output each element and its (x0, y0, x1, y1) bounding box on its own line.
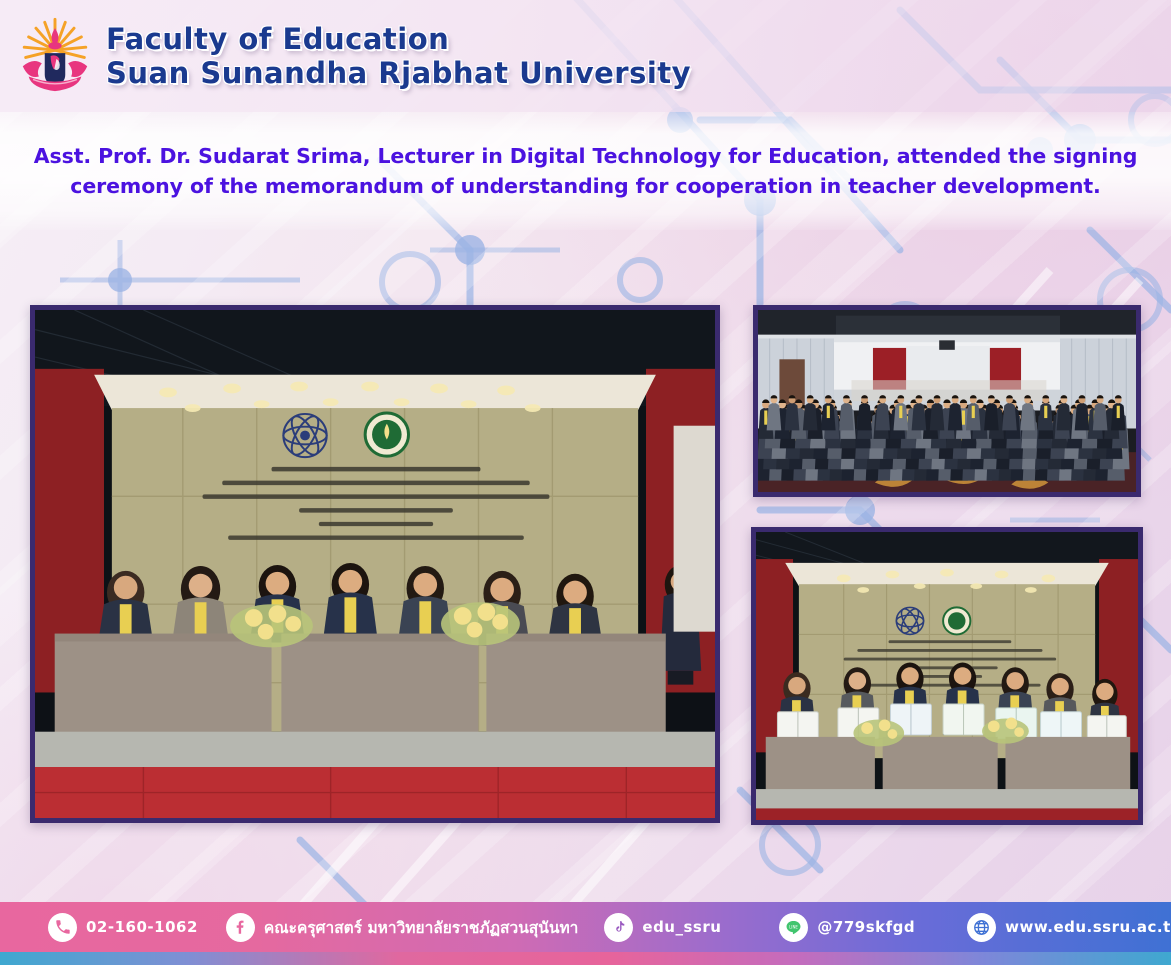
university-name-line: Suan Sunandha Rjabhat University (106, 58, 691, 89)
svg-text:LINE: LINE (790, 924, 799, 929)
photo-main (30, 305, 720, 823)
ssru-royal-crest-icon (18, 15, 92, 97)
tiktok-icon (604, 913, 633, 942)
contact-website[interactable]: www.edu.ssru.ac.th (967, 913, 1171, 942)
faculty-name-line: Faculty of Education (106, 24, 691, 55)
contact-phone[interactable]: 02-160-1062 (48, 913, 198, 942)
university-title: Faculty of Education Suan Sunandha Rjabh… (106, 24, 691, 88)
photo-signing (751, 527, 1143, 825)
facebook-icon (226, 913, 255, 942)
photo-group-image (758, 310, 1136, 492)
photo-signing-image (756, 532, 1138, 820)
phone-icon (48, 913, 77, 942)
globe-icon (967, 913, 996, 942)
headline-text: Asst. Prof. Dr. Sudarat Srima, Lecturer … (23, 141, 1148, 202)
line-icon: LINE (779, 913, 808, 942)
line-label: @779skfgd (817, 918, 915, 936)
tiktok-label: edu_ssru (642, 918, 721, 936)
headline-band: Asst. Prof. Dr. Sudarat Srima, Lecturer … (0, 112, 1171, 230)
contact-tiktok[interactable]: edu_ssru (604, 913, 721, 942)
photo-main-image (35, 310, 715, 818)
poster-header: Faculty of Education Suan Sunandha Rjabh… (0, 0, 1171, 112)
contact-facebook[interactable]: คณะครุศาสตร์ มหาวิทยาลัยราชภัฏสวนสุนันทา (226, 913, 579, 942)
phone-label: 02-160-1062 (86, 918, 198, 936)
poster-canvas: Faculty of Education Suan Sunandha Rjabh… (0, 0, 1171, 965)
photo-group (753, 305, 1141, 497)
contact-line[interactable]: LINE @779skfgd (779, 913, 915, 942)
website-label: www.edu.ssru.ac.th (1005, 918, 1171, 936)
contact-footer: 02-160-1062 คณะครุศาสตร์ มหาวิทยาลัยราชภ… (0, 902, 1171, 952)
facebook-label: คณะครุศาสตร์ มหาวิทยาลัยราชภัฏสวนสุนันทา (264, 915, 579, 940)
footer-gradient-strip (0, 952, 1171, 965)
